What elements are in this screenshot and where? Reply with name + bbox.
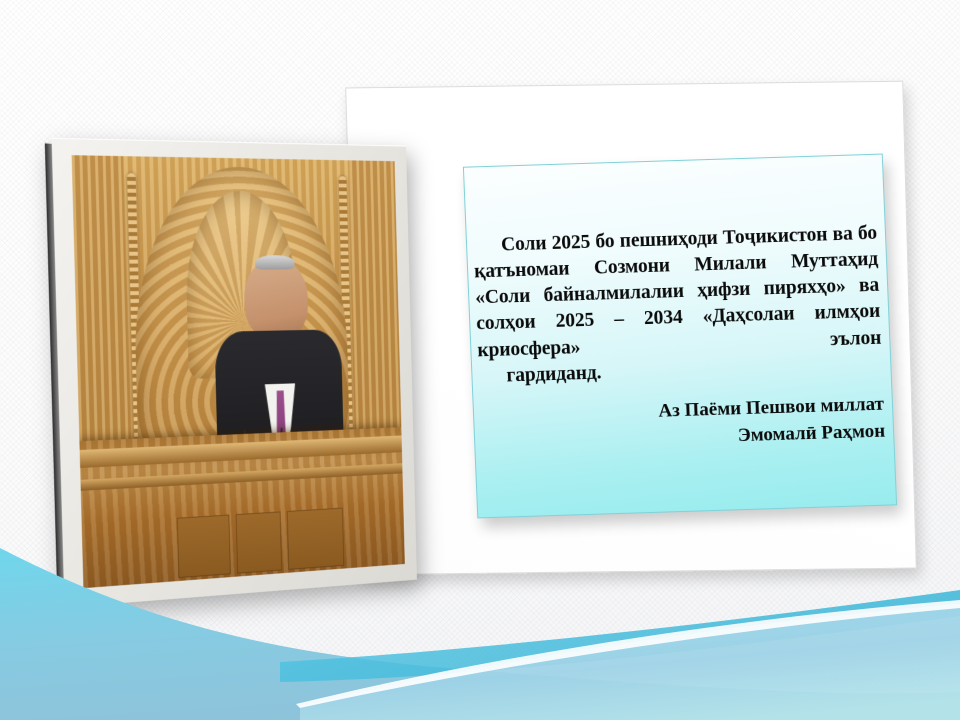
podium-rail-upper (80, 435, 402, 467)
slide-root: Соли 2025 бо пешниҳоди Тоҷикистон ва бо … (0, 0, 960, 720)
quote-card-background: Соли 2025 бо пешниҳоди Тоҷикистон ва бо … (463, 154, 897, 519)
wave-svg (0, 530, 960, 720)
quote-line: Соли 2025 бо пешниҳоди Тоҷикистон (501, 224, 828, 255)
photo-image (72, 155, 405, 588)
quote-text-card[interactable]: Соли 2025 бо пешниҳоди Тоҷикистон ва бо … (463, 154, 897, 519)
speaker-head (244, 258, 310, 341)
podium-rail-lower (80, 463, 402, 491)
quote-card-body: Соли 2025 бо пешниҳоди Тоҷикистон ва бо … (473, 221, 886, 458)
decorative-wave-band (0, 530, 960, 720)
quote-paragraph: Соли 2025 бо пешниҳоди Тоҷикистон ва бо … (473, 221, 883, 390)
quote-attribution: Аз Паёми Пешвои миллат Эмомалӣ Раҳмон (480, 391, 886, 458)
speaker-hair (255, 255, 295, 269)
